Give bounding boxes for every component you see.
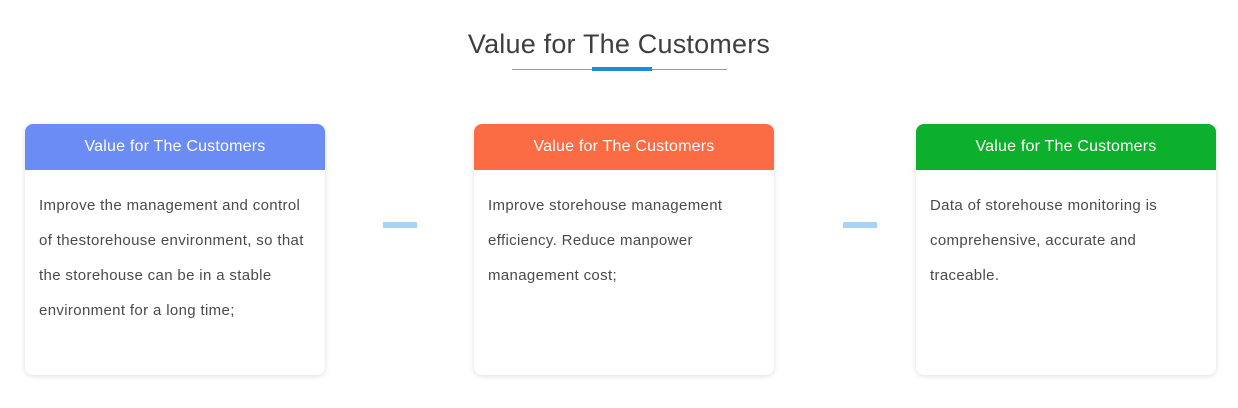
value-card-3-header: Value for The Customers — [916, 124, 1216, 170]
card-connector-1 — [383, 222, 417, 228]
value-card-1: Value for The Customers Improve the mana… — [25, 124, 325, 375]
value-card-2: Value for The Customers Improve storehou… — [474, 124, 774, 375]
page-header: Value for The Customers — [0, 0, 1238, 61]
value-card-2-body: Improve storehouse management efficiency… — [474, 170, 774, 293]
value-card-1-header: Value for The Customers — [25, 124, 325, 170]
title-underline-accent — [592, 67, 652, 71]
value-card-2-header: Value for The Customers — [474, 124, 774, 170]
value-card-1-body: Improve the management and control of th… — [25, 170, 325, 328]
card-connector-2 — [843, 222, 877, 228]
value-cards-row: Value for The Customers Improve the mana… — [0, 124, 1238, 384]
value-card-3-body: Data of storehouse monitoring is compreh… — [916, 170, 1216, 293]
value-card-3: Value for The Customers Data of storehou… — [916, 124, 1216, 375]
page-title: Value for The Customers — [0, 0, 1238, 61]
